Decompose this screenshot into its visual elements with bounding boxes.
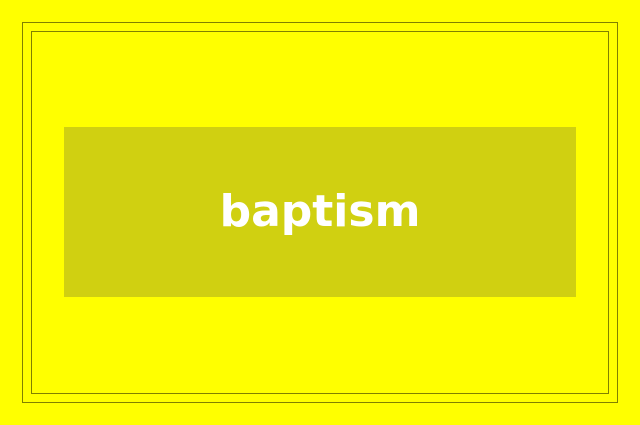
word-label: baptism <box>220 190 421 234</box>
poster-canvas: baptism <box>0 0 640 425</box>
word-plate: baptism <box>64 127 576 297</box>
